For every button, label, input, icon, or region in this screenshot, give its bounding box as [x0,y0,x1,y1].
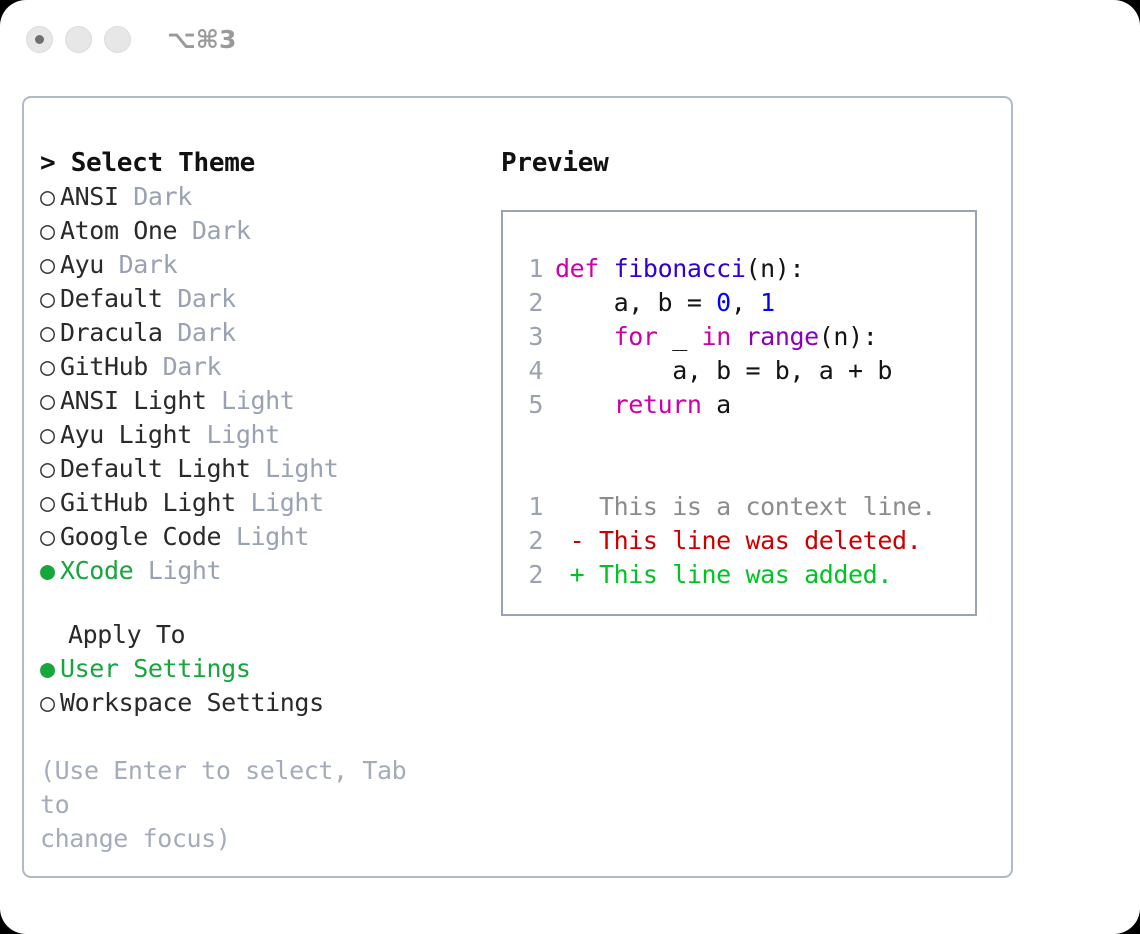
hint-line-1: (Use Enter to select, Tab to [40,754,450,822]
line-number: 5 [517,388,543,422]
code-token: 1 [760,288,775,317]
option-label: User Settings [60,654,250,683]
radio-unselected-icon: ○ [40,486,60,520]
diff-marker: - [555,526,584,555]
window-dot-third[interactable] [104,26,131,53]
option-suffix-badge: Light [221,522,309,551]
diff-text: This line was added. [584,560,892,589]
theme-option-ansi[interactable]: ○ANSI Dark [40,180,490,214]
title-bar: ⌥⌘3 [0,0,1140,78]
option-suffix-badge: Light [192,420,280,449]
option-suffix-badge: Light [236,488,324,517]
window-dot-active[interactable] [26,26,53,53]
theme-option-list: ○ANSI Dark○Atom One Dark○Ayu Dark○Defaul… [40,180,490,588]
code-blank-separator-2 [517,456,975,490]
line-number: 2 [517,558,543,592]
hint-spacer [40,720,490,754]
keyboard-hint: (Use Enter to select, Tab to change focu… [40,754,450,856]
option-label: GitHub Light [60,488,236,517]
code-line: 2 a, b = 0, 1 [517,286,975,320]
window-controls [26,26,131,53]
hint-line-2: change focus) [40,822,450,856]
panel-columns: > Select Theme ○ANSI Dark○Atom One Dark○… [24,98,1011,876]
apply-option-user-settings[interactable]: ●User Settings [40,652,490,686]
code-blank-separator [517,422,975,456]
code-token: (n): [745,254,804,283]
radio-unselected-icon: ○ [40,248,60,282]
line-number: 1 [517,252,543,286]
code-token: for [614,322,658,351]
section-spacer [40,588,490,618]
radio-unselected-icon: ○ [40,452,60,486]
radio-unselected-icon: ○ [40,520,60,554]
theme-option-atom-one[interactable]: ○Atom One Dark [40,214,490,248]
option-suffix-badge: Dark [119,182,192,211]
preview-column: Preview 1def fibonacci(n):2 a, b = 0, 13… [501,146,1001,616]
code-token [555,322,614,351]
theme-option-ayu[interactable]: ○Ayu Dark [40,248,490,282]
diff-line-add: 2 + This line was added. [517,558,975,592]
terminal-app-window: ⌥⌘3 > Select Theme ○ANSI Dark○Atom One D… [0,0,1140,934]
apply-to-option-list: ●User Settings○Workspace Settings [40,652,490,720]
line-number: 2 [517,524,543,558]
active-dot-indicator [35,35,44,44]
option-suffix-badge: Light [133,556,221,585]
theme-option-default-light[interactable]: ○Default Light Light [40,452,490,486]
option-label: Atom One [60,216,177,245]
theme-option-xcode[interactable]: ●XCode Light [40,554,490,588]
theme-option-google-code[interactable]: ○Google Code Light [40,520,490,554]
option-label: Dracula [60,318,163,347]
radio-unselected-icon: ○ [40,686,60,720]
diff-text: This is a context line. [584,492,936,521]
select-theme-header: > Select Theme [40,146,490,180]
code-token: a, b = b, a + b [555,356,892,385]
diff-marker [555,492,584,521]
option-label: Google Code [60,522,221,551]
diff-marker: + [555,560,584,589]
main-panel: > Select Theme ○ANSI Dark○Atom One Dark○… [22,96,1013,878]
theme-option-dracula[interactable]: ○Dracula Dark [40,316,490,350]
code-sample: 1def fibonacci(n):2 a, b = 0, 13 for _ i… [517,252,975,422]
theme-option-default[interactable]: ○Default Dark [40,282,490,316]
theme-option-ayu-light[interactable]: ○Ayu Light Light [40,418,490,452]
preview-title: Preview [501,146,1001,180]
radio-unselected-icon: ○ [40,282,60,316]
code-line: 3 for _ in range(n): [517,320,975,354]
option-suffix-badge: Dark [163,318,236,347]
line-number: 2 [517,286,543,320]
keyboard-shortcut-label: ⌥⌘3 [167,25,236,54]
code-line: 1def fibonacci(n): [517,252,975,286]
radio-unselected-icon: ○ [40,316,60,350]
code-token: fibonacci [614,254,746,283]
radio-selected-icon: ● [40,554,60,588]
code-preview-box: 1def fibonacci(n):2 a, b = 0, 13 for _ i… [501,210,977,616]
theme-selection-column: > Select Theme ○ANSI Dark○Atom One Dark○… [40,146,490,856]
radio-unselected-icon: ○ [40,350,60,384]
code-token: range [746,322,819,351]
code-token: a [702,390,731,419]
theme-option-github[interactable]: ○GitHub Dark [40,350,490,384]
code-token: _ [658,322,702,351]
diff-sample: 1 This is a context line.2 - This line w… [517,490,975,592]
option-label: Ayu Light [60,420,192,449]
code-token: in [702,322,731,351]
option-label: Default Light [60,454,250,483]
code-token: , [731,288,760,317]
option-label: Default [60,284,163,313]
option-label: Workspace Settings [60,688,324,717]
theme-option-ansi-light[interactable]: ○ANSI Light Light [40,384,490,418]
radio-unselected-icon: ○ [40,214,60,248]
theme-option-github-light[interactable]: ○GitHub Light Light [40,486,490,520]
apply-option-workspace-settings[interactable]: ○Workspace Settings [40,686,490,720]
line-number: 1 [517,490,543,524]
option-suffix-badge: Light [250,454,338,483]
code-line: 5 return a [517,388,975,422]
radio-unselected-icon: ○ [40,384,60,418]
option-suffix-badge: Light [207,386,295,415]
option-suffix-badge: Dark [104,250,177,279]
line-number: 4 [517,354,543,388]
diff-text: This line was deleted. [584,526,921,555]
option-suffix-badge: Dark [163,284,236,313]
option-label: GitHub [60,352,148,381]
code-token: 0 [716,288,731,317]
diff-line-del: 2 - This line was deleted. [517,524,975,558]
code-token: a, b = [555,288,716,317]
code-token [555,390,614,419]
radio-unselected-icon: ○ [40,180,60,214]
radio-unselected-icon: ○ [40,418,60,452]
option-label: ANSI Light [60,386,207,415]
code-token [731,322,746,351]
diff-line-ctx: 1 This is a context line. [517,490,975,524]
option-suffix-badge: Dark [177,216,250,245]
apply-to-header: Apply To [40,618,490,652]
code-token: return [614,390,702,419]
option-label: ANSI [60,182,119,211]
code-line: 4 a, b = b, a + b [517,354,975,388]
code-token: (n): [819,322,878,351]
window-dot-second[interactable] [65,26,92,53]
code-token: def [555,254,614,283]
option-suffix-badge: Dark [148,352,221,381]
option-label: XCode [60,556,133,585]
radio-selected-icon: ● [40,652,60,686]
option-label: Ayu [60,250,104,279]
line-number: 3 [517,320,543,354]
